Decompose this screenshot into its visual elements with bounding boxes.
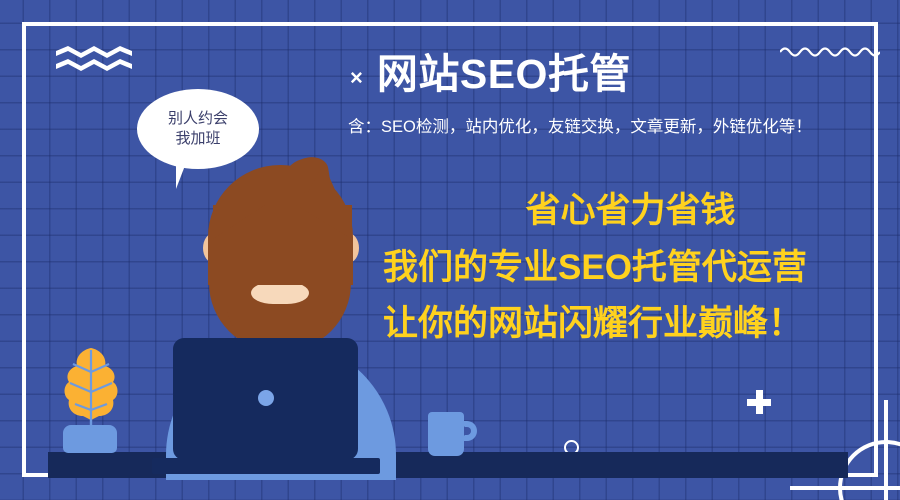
speech-bubble: 别人约会 我加班 (137, 89, 259, 169)
plant-pot (63, 425, 117, 453)
laptop-logo-dot (258, 390, 274, 406)
speech-bubble-line-2: 我加班 (175, 129, 220, 149)
plus-icon (747, 390, 771, 414)
potted-plant-icon (55, 344, 127, 432)
seo-hosting-banner: × 网站SEO托管 含：SEO检测，站内优化，友链交换，文章更新，外链优化等！ … (0, 0, 900, 500)
person-mouth (251, 282, 309, 304)
speech-bubble-line-1: 别人约会 (168, 109, 228, 129)
coffee-mug-icon (428, 412, 464, 456)
laptop-base (152, 458, 380, 474)
corner-horizontal-line (790, 486, 900, 490)
corner-vertical-line (884, 400, 888, 500)
thin-wave-icon (780, 44, 880, 58)
